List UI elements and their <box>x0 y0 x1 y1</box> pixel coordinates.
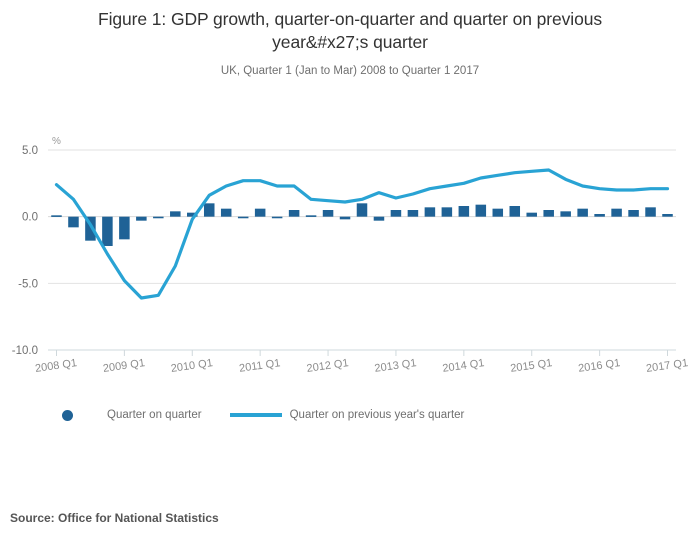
chart-subtitle: UK, Quarter 1 (Jan to Mar) 2008 to Quart… <box>0 65 700 77</box>
legend-label-quarter-on-quarter: Quarter on quarter <box>107 409 202 421</box>
bar-2012-Q4 <box>374 217 385 221</box>
y-axis-tick-label: -10.0 <box>12 345 38 357</box>
bar-2015-Q3 <box>560 211 571 216</box>
bar-2009-Q3 <box>153 217 164 219</box>
bar-2011-Q1 <box>255 209 266 217</box>
bar-2010-Q3 <box>221 209 232 217</box>
bar-2011-Q2 <box>272 217 283 219</box>
bar-2009-Q1 <box>119 217 130 240</box>
y-axis-tick-label: 5.0 <box>22 145 38 157</box>
x-axis-tick-label: 2016 Q1 <box>577 357 620 375</box>
bar-2008-Q4 <box>102 217 113 246</box>
bar-2010-Q2 <box>204 203 215 216</box>
bar-2015-Q4 <box>577 209 588 217</box>
bar-2012-Q2 <box>340 217 351 220</box>
x-axis-tick-label: 2009 Q1 <box>102 357 145 375</box>
y-axis-tick-label: -5.0 <box>18 278 38 290</box>
bar-2016-Q1 <box>594 214 605 217</box>
bar-2011-Q3 <box>289 210 300 217</box>
chart-title: Figure 1: GDP growth, quarter-on-quarter… <box>50 8 650 54</box>
bar-2013-Q3 <box>425 207 436 216</box>
bar-2016-Q3 <box>628 210 639 217</box>
x-axis-tick-label: 2017 Q1 <box>645 357 688 375</box>
bar-2008-Q1 <box>51 215 62 217</box>
y-axis-unit-label: % <box>52 136 61 147</box>
bar-2014-Q1 <box>459 206 470 217</box>
chart-legend: Quarter on quarter Quarter on previous y… <box>0 400 700 430</box>
bar-2013-Q2 <box>408 210 419 217</box>
bar-2017-Q1 <box>662 214 673 217</box>
legend-line-marker-icon <box>230 413 282 417</box>
bar-2013-Q1 <box>391 210 402 217</box>
legend-dot-marker-icon <box>62 410 73 421</box>
bar-2014-Q4 <box>510 206 521 217</box>
x-axis-tick-label: 2015 Q1 <box>510 357 553 375</box>
line-quarter-on-previous-year <box>56 170 667 298</box>
bar-2010-Q4 <box>238 217 249 219</box>
x-axis-tick-label: 2011 Q1 <box>238 357 281 375</box>
bar-2016-Q2 <box>611 209 622 217</box>
x-axis-tick-label: 2010 Q1 <box>170 357 213 375</box>
bar-2014-Q3 <box>493 209 504 217</box>
bar-2009-Q2 <box>136 217 147 221</box>
figure-header: Figure 1: GDP growth, quarter-on-quarter… <box>0 0 700 77</box>
bar-2008-Q2 <box>68 217 79 228</box>
bar-2015-Q1 <box>526 213 537 217</box>
legend-item-quarter-on-quarter[interactable]: Quarter on quarter <box>62 409 202 421</box>
source-note: Source: Office for National Statistics <box>10 511 219 525</box>
legend-label-quarter-on-previous-year: Quarter on previous year's quarter <box>290 409 465 421</box>
x-axis-tick-label: 2012 Q1 <box>306 357 349 375</box>
y-axis-tick-label: 0.0 <box>22 212 38 224</box>
chart-plot-area: 5.00.0-5.0-10.0%2008 Q12009 Q12010 Q1201… <box>0 125 700 390</box>
bar-2013-Q4 <box>442 207 453 216</box>
chart-svg: 5.00.0-5.0-10.0%2008 Q12009 Q12010 Q1201… <box>0 125 700 390</box>
x-axis-tick-label: 2013 Q1 <box>374 357 417 375</box>
x-axis-tick-label: 2014 Q1 <box>442 357 485 375</box>
legend-item-quarter-on-previous-year[interactable]: Quarter on previous year's quarter <box>230 409 465 421</box>
figure-container: Figure 1: GDP growth, quarter-on-quarter… <box>0 0 700 549</box>
bar-2016-Q4 <box>645 207 656 216</box>
bar-2015-Q2 <box>543 210 554 217</box>
x-axis-tick-label: 2008 Q1 <box>34 357 77 375</box>
bar-2014-Q2 <box>476 205 487 217</box>
bar-2012-Q3 <box>357 203 368 216</box>
bar-2012-Q1 <box>323 210 334 217</box>
bar-2011-Q4 <box>306 215 317 217</box>
bar-2009-Q4 <box>170 211 181 216</box>
